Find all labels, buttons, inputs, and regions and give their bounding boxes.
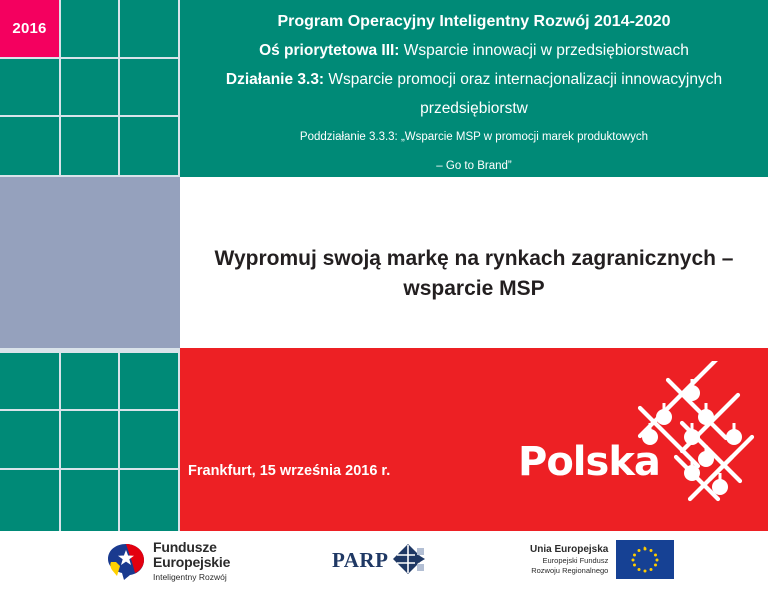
header-axis-rest: Wsparcie innowacji w przedsiębiorstwach (399, 42, 688, 59)
grid-cell (0, 59, 59, 115)
header-measure-rest: Wsparcie promocji oraz internacjonalizac… (324, 71, 722, 88)
grid-cell (0, 411, 59, 468)
header-line-measure: Działanie 3.3: Wsparcie promocji oraz in… (202, 65, 746, 94)
grid-cell (61, 0, 118, 57)
grid-cell (0, 353, 59, 409)
grid-cell (61, 411, 118, 468)
fe-line1: Fundusze (153, 540, 230, 555)
grid-cell (61, 117, 118, 175)
fe-line2: Europejskie (153, 555, 230, 570)
parp-wordmark: PARP (332, 548, 388, 573)
header-line-measure-cont: przedsiębiorstw (202, 94, 746, 123)
parp-diamond-icon (393, 544, 427, 576)
eu-flag-icon (616, 540, 674, 579)
grid-cell (120, 59, 178, 115)
grid-cell (0, 470, 59, 531)
decorative-purple-block (0, 177, 180, 348)
decorative-grid-top: 2016 (0, 0, 180, 177)
presentation-slide: 2016 Program Operacyjny Inteligentny Roz… (0, 0, 768, 591)
logo-parp: PARP (332, 544, 427, 576)
title-area: Wypromuj swoją markę na rynkach zagranic… (180, 177, 768, 348)
ue-line1: Unia Europejska (530, 544, 608, 556)
event-place-date: Frankfurt, 15 września 2016 r. (188, 463, 390, 479)
polska-brand-logo: Polska (510, 361, 760, 511)
grid-cell (0, 117, 59, 175)
header-line-axis: Oś priorytetowa III: Wsparcie innowacji … (202, 36, 746, 65)
logo-fundusze-europejskie: Fundusze Europejskie Inteligentny Rozwój (106, 540, 230, 583)
grid-cell (120, 470, 178, 531)
event-banner: Frankfurt, 15 września 2016 r. Polska (180, 348, 768, 531)
unia-europejska-text: Unia Europejska Europejski Fundusz Rozwo… (530, 544, 608, 576)
ue-line3: Rozwoju Regionalnego (530, 566, 608, 576)
header-measure-bold: Działanie 3.3: (226, 71, 324, 88)
header-axis-bold: Oś priorytetowa III: (259, 42, 399, 59)
header-submeasure-line1: Poddziałanie 3.3.3: „Wsparcie MSP w prom… (202, 123, 746, 152)
fundusze-europejskie-mark-icon (106, 542, 146, 582)
grid-cell (120, 353, 178, 409)
logo-unia-europejska: Unia Europejska Europejski Fundusz Rozwo… (530, 540, 674, 579)
ue-line2: Europejski Fundusz (530, 556, 608, 566)
fundusze-europejskie-text: Fundusze Europejskie Inteligentny Rozwój (153, 540, 230, 583)
grid-cell (61, 470, 118, 531)
program-header: Program Operacyjny Inteligentny Rozwój 2… (180, 0, 768, 177)
grid-cell (120, 117, 178, 175)
page-title: Wypromuj swoją markę na rynkach zagranic… (190, 244, 758, 304)
grid-cell (120, 0, 178, 57)
decorative-grid-bottom (0, 348, 180, 531)
polska-kite-pattern-icon (630, 361, 760, 506)
grid-cell (61, 353, 118, 409)
grid-cell (61, 59, 118, 115)
fe-line3: Inteligentny Rozwój (153, 571, 230, 583)
year-badge-label: 2016 (0, 0, 59, 57)
header-line-program: Program Operacyjny Inteligentny Rozwój 2… (202, 7, 746, 36)
grid-cell (120, 411, 178, 468)
